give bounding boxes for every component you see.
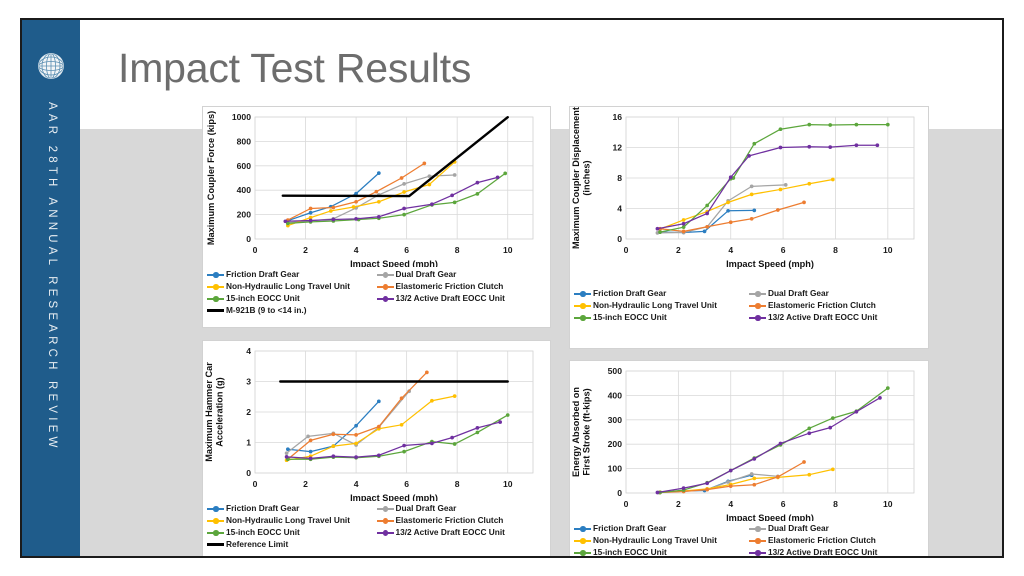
series-marker (453, 442, 457, 446)
legend-swatch-icon (207, 528, 224, 538)
legend-swatch-icon (574, 313, 591, 323)
svg-text:100: 100 (608, 464, 623, 474)
svg-text:1: 1 (246, 438, 251, 448)
legend-item-label: Non-Hydraulic Long Travel Unit (226, 281, 350, 292)
legend-swatch-icon (749, 301, 766, 311)
series-marker (776, 475, 780, 479)
series-marker (855, 410, 859, 414)
series-marker (377, 215, 381, 219)
legend-swatch-icon (207, 294, 224, 304)
chart-maximum-coupler-displacement: 04812160246810Impact Speed (mph)Maximum … (570, 107, 928, 348)
series-marker (705, 212, 709, 216)
legend-swatch-icon (207, 516, 224, 526)
legend-item-label: Friction Draft Gear (226, 269, 299, 280)
chart-panel-maximum-coupler-displacement: 04812160246810Impact Speed (mph)Maximum … (569, 106, 929, 349)
series-marker (831, 416, 835, 420)
legend-item: Non-Hydraulic Long Travel Unit (574, 300, 749, 311)
svg-text:Energy Absorbed on: Energy Absorbed on (571, 387, 581, 477)
sidebar-vertical-label: AAR 28TH ANNUAL RESEARCH REVIEW (22, 98, 80, 538)
series-marker (309, 439, 313, 443)
legend-item: Elastomeric Friction Clutch (749, 300, 924, 311)
series-marker (779, 188, 783, 192)
series-marker (750, 472, 754, 476)
legend-item-label: 15-inch EOCC Unit (226, 293, 300, 304)
chart-maximum-hammer-car-acceleration: 012340246810Impact Speed (mph)Maximum Ha… (203, 341, 550, 558)
legend-swatch-icon (749, 524, 766, 534)
svg-text:6: 6 (404, 245, 409, 255)
slide-canvas: Impact Test Results 02004006008001000024… (20, 18, 1004, 558)
svg-text:6: 6 (781, 245, 786, 255)
legend-item-label: Friction Draft Gear (226, 503, 299, 514)
series-marker (752, 483, 756, 487)
svg-text:8: 8 (617, 173, 622, 183)
series-marker (752, 457, 756, 461)
series-marker (752, 477, 756, 481)
legend-swatch-icon (749, 536, 766, 546)
legend-item: Reference Limit (207, 539, 546, 550)
series-marker (802, 201, 806, 205)
series-marker (354, 424, 358, 428)
svg-text:4: 4 (617, 204, 622, 214)
svg-text:10: 10 (503, 479, 513, 489)
chart-legend-maximum-coupler-displacement: Friction Draft GearDual Draft GearNon-Hy… (574, 288, 924, 323)
series-marker (828, 426, 832, 430)
series-marker (354, 433, 358, 437)
series-marker (828, 145, 832, 149)
svg-text:10: 10 (503, 245, 513, 255)
legend-item-label: Elastomeric Friction Clutch (396, 515, 504, 526)
series-marker (285, 451, 289, 455)
series-marker (750, 185, 754, 189)
series-marker (309, 211, 313, 215)
svg-text:Acceleration (g): Acceleration (g) (215, 377, 225, 446)
svg-text:12: 12 (612, 143, 622, 153)
series-marker (400, 396, 404, 400)
legend-swatch-icon (574, 524, 591, 534)
svg-text:0: 0 (624, 245, 629, 255)
series-marker (400, 176, 404, 180)
svg-text:8: 8 (455, 245, 460, 255)
legend-swatch-icon (207, 270, 224, 280)
series-marker (377, 425, 381, 429)
legend-item: Dual Draft Gear (749, 288, 924, 299)
series-marker (476, 426, 480, 430)
legend-item: Non-Hydraulic Long Travel Unit (574, 535, 749, 546)
legend-item: 13/2 Active Draft EOCC Unit (749, 312, 924, 323)
series-marker (450, 193, 454, 197)
series-marker (807, 426, 811, 430)
series-marker (402, 444, 406, 448)
legend-item: Elastomeric Friction Clutch (749, 535, 924, 546)
legend-item-label: Dual Draft Gear (768, 523, 829, 534)
chart-panel-maximum-hammer-car-acceleration: 012340246810Impact Speed (mph)Maximum Ha… (202, 340, 551, 558)
svg-text:0: 0 (246, 468, 251, 478)
svg-text:400: 400 (237, 185, 252, 195)
series-marker (422, 162, 426, 166)
series-marker (776, 208, 780, 212)
series-marker (352, 205, 356, 209)
legend-item-label: Elastomeric Friction Clutch (396, 281, 504, 292)
series-marker (374, 190, 378, 194)
svg-text:200: 200 (237, 210, 252, 220)
series-marker (682, 486, 686, 490)
series-marker (656, 227, 660, 231)
series-marker (331, 444, 335, 448)
legend-item: Dual Draft Gear (377, 503, 547, 514)
svg-text:0: 0 (246, 234, 251, 244)
svg-text:8: 8 (833, 245, 838, 255)
chart-maximum-coupler-force: 020040060080010000246810Impact Speed (mp… (203, 107, 550, 327)
series-marker (705, 225, 709, 229)
series-marker (377, 453, 381, 457)
legend-item-label: Friction Draft Gear (593, 288, 666, 299)
slide-body: Impact Test Results 02004006008001000024… (80, 20, 1004, 556)
svg-text:Impact Speed (mph): Impact Speed (mph) (726, 259, 814, 269)
series-marker (682, 218, 686, 222)
legend-swatch-icon (574, 301, 591, 311)
series-marker (306, 435, 310, 439)
legend-item: M-921B (9 to <14 in.) (207, 305, 546, 316)
series-marker (503, 172, 507, 176)
series-marker (453, 394, 457, 398)
legend-item-label: 15-inch EOCC Unit (226, 527, 300, 538)
svg-text:2: 2 (303, 479, 308, 489)
series-marker (476, 181, 480, 185)
series-marker (705, 488, 709, 492)
legend-item-label: 13/2 Active Draft EOCC Unit (396, 293, 505, 304)
legend-swatch-icon (749, 548, 766, 558)
chart-legend-energy-absorbed-on-first-stroke: Friction Draft GearDual Draft GearNon-Hy… (574, 523, 924, 558)
svg-text:Maximum Coupler Force (kips): Maximum Coupler Force (kips) (206, 111, 216, 245)
legend-swatch-icon (377, 294, 394, 304)
legend-item: 13/2 Active Draft EOCC Unit (377, 293, 547, 304)
series-marker (453, 173, 457, 177)
legend-swatch-icon (377, 282, 394, 292)
svg-text:3: 3 (246, 377, 251, 387)
series-marker (354, 217, 358, 221)
series-marker (402, 450, 406, 454)
legend-item: Elastomeric Friction Clutch (377, 281, 547, 292)
svg-text:400: 400 (608, 390, 623, 400)
svg-text:2: 2 (676, 499, 681, 509)
svg-text:4: 4 (728, 245, 733, 255)
legend-item-label: 15-inch EOCC Unit (593, 312, 667, 323)
legend-item: Elastomeric Friction Clutch (377, 515, 547, 526)
series-marker (377, 399, 381, 403)
series-marker (779, 146, 783, 150)
series-marker (747, 154, 751, 158)
series-marker (656, 491, 660, 495)
chart-plot-area-maximum-coupler-displacement: 04812160246810Impact Speed (mph)Maximum … (570, 107, 928, 286)
legend-item-label: 13/2 Active Draft EOCC Unit (768, 312, 877, 323)
legend-item: Friction Draft Gear (207, 503, 377, 514)
svg-text:4: 4 (354, 245, 359, 255)
series-marker (875, 143, 879, 147)
chart-energy-absorbed-first-stroke: 01002003004005000246810Impact Speed (mph… (570, 361, 928, 558)
legend-swatch-icon (377, 270, 394, 280)
series-marker (354, 200, 358, 204)
svg-text:Impact Speed (mph): Impact Speed (mph) (350, 259, 438, 267)
series-marker (331, 454, 335, 458)
legend-item-label: Non-Hydraulic Long Travel Unit (593, 300, 717, 311)
series-marker (726, 209, 730, 213)
series-marker (682, 230, 686, 234)
series-marker (309, 450, 313, 454)
svg-text:200: 200 (608, 439, 623, 449)
svg-text:800: 800 (237, 136, 252, 146)
svg-text:0: 0 (617, 488, 622, 498)
legend-swatch-icon (377, 504, 394, 514)
legend-item-label: Friction Draft Gear (593, 523, 666, 534)
legend-item: Non-Hydraulic Long Travel Unit (207, 281, 377, 292)
legend-item-label: Dual Draft Gear (396, 269, 457, 280)
series-marker (750, 193, 754, 197)
legend-swatch-icon (574, 289, 591, 299)
series-marker (430, 202, 434, 206)
svg-text:6: 6 (781, 499, 786, 509)
legend-item-label: Non-Hydraulic Long Travel Unit (593, 535, 717, 546)
svg-text:4: 4 (246, 346, 251, 356)
svg-text:0: 0 (253, 245, 258, 255)
legend-item-label: 13/2 Active Draft EOCC Unit (768, 547, 877, 558)
svg-text:10: 10 (883, 499, 893, 509)
series-marker (729, 220, 733, 224)
series-marker (476, 192, 480, 196)
legend-item: Friction Draft Gear (207, 269, 377, 280)
series-marker (703, 230, 707, 234)
series-marker (402, 182, 406, 186)
series-marker (729, 175, 733, 179)
chart-panel-maximum-coupler-force: 020040060080010000246810Impact Speed (mp… (202, 106, 551, 328)
series-marker (682, 222, 686, 226)
svg-text:8: 8 (455, 479, 460, 489)
chart-legend-maximum-hammer-car-acceleration: Friction Draft GearDual Draft GearNon-Hy… (207, 503, 546, 550)
series-marker (476, 431, 480, 435)
svg-text:10: 10 (883, 245, 893, 255)
svg-text:8: 8 (833, 499, 838, 509)
page-title: Impact Test Results (118, 48, 471, 89)
chart-plot-area-energy-absorbed-on-first-stroke: 01002003004005000246810Impact Speed (mph… (570, 361, 928, 521)
legend-swatch-icon (749, 313, 766, 323)
legend-item-label: Dual Draft Gear (396, 503, 457, 514)
svg-text:Maximum Hammer Car: Maximum Hammer Car (204, 362, 214, 462)
series-marker (726, 201, 730, 205)
svg-text:0: 0 (253, 479, 258, 489)
series-marker (430, 399, 434, 403)
series-marker (496, 176, 500, 180)
legend-item-label: 15-inch EOCC Unit (593, 547, 667, 558)
series-marker (658, 230, 662, 234)
series-marker (886, 386, 890, 390)
chart-legend-maximum-coupler-force: Friction Draft GearDual Draft GearNon-Hy… (207, 269, 546, 316)
series-marker (430, 442, 434, 446)
svg-text:16: 16 (612, 112, 622, 122)
svg-text:(inches): (inches) (582, 160, 592, 195)
legend-item: 13/2 Active Draft EOCC Unit (749, 547, 924, 558)
series-marker (453, 201, 457, 205)
series-marker (878, 396, 882, 400)
svg-text:4: 4 (354, 479, 359, 489)
chart-panel-energy-absorbed-first-stroke: 01002003004005000246810Impact Speed (mph… (569, 360, 929, 558)
series-marker (784, 183, 788, 187)
brand-sidebar: AAR 28TH ANNUAL RESEARCH REVIEW (22, 20, 80, 556)
legend-swatch-icon (377, 528, 394, 538)
legend-item: Friction Draft Gear (574, 288, 749, 299)
series-marker (831, 178, 835, 182)
series-marker (329, 209, 333, 213)
series-marker (682, 225, 686, 229)
series-marker (831, 467, 835, 471)
svg-text:2: 2 (303, 245, 308, 255)
legend-item-label: Elastomeric Friction Clutch (768, 300, 876, 311)
series-marker (309, 457, 313, 461)
svg-text:2: 2 (676, 245, 681, 255)
series-marker (828, 123, 832, 127)
series-marker (802, 460, 806, 464)
series-marker (779, 127, 783, 131)
legend-swatch-icon (207, 504, 224, 514)
svg-text:500: 500 (608, 366, 623, 376)
series-marker (807, 182, 811, 186)
legend-swatch-icon (207, 282, 224, 292)
series-marker (729, 469, 733, 473)
legend-swatch-icon (574, 548, 591, 558)
series-marker (402, 207, 406, 211)
series-marker (331, 218, 335, 222)
legend-item: 15-inch EOCC Unit (207, 527, 377, 538)
legend-swatch-icon (749, 289, 766, 299)
series-marker (377, 171, 381, 175)
series-marker (729, 484, 733, 488)
series-marker (450, 436, 454, 440)
svg-text:6: 6 (404, 479, 409, 489)
svg-text:300: 300 (608, 415, 623, 425)
legend-item: Dual Draft Gear (377, 269, 547, 280)
series-marker (498, 420, 502, 424)
globe-icon (35, 50, 67, 82)
legend-item-label: Dual Draft Gear (768, 288, 829, 299)
legend-item-label: Elastomeric Friction Clutch (768, 535, 876, 546)
svg-text:First Stroke (ft-kips): First Stroke (ft-kips) (582, 388, 592, 475)
series-marker (354, 455, 358, 459)
svg-text:Maximum Coupler Displacement: Maximum Coupler Displacement (571, 107, 581, 249)
series-marker (506, 413, 510, 417)
legend-swatch-icon (207, 540, 224, 550)
svg-text:4: 4 (728, 499, 733, 509)
svg-text:Impact Speed (mph): Impact Speed (mph) (726, 513, 814, 521)
legend-swatch-icon (574, 536, 591, 546)
series-marker (807, 431, 811, 435)
series-marker (886, 123, 890, 127)
series-marker (750, 217, 754, 221)
legend-item: 15-inch EOCC Unit (574, 547, 749, 558)
series-marker (425, 371, 429, 375)
series-marker (402, 213, 406, 217)
series-marker (377, 200, 381, 204)
series-marker (285, 455, 289, 459)
sidebar-vertical-label-text: AAR 28TH ANNUAL RESEARCH REVIEW (46, 102, 58, 452)
legend-swatch-icon (377, 516, 394, 526)
series-marker (807, 145, 811, 149)
series-marker (428, 183, 432, 187)
legend-item: 13/2 Active Draft EOCC Unit (377, 527, 547, 538)
series-marker (402, 190, 406, 194)
series-marker (283, 219, 287, 223)
svg-text:0: 0 (624, 499, 629, 509)
series-marker (705, 481, 709, 485)
svg-text:1000: 1000 (232, 112, 251, 122)
series-marker (309, 219, 313, 223)
series-marker (855, 143, 859, 147)
legend-swatch-icon (207, 306, 224, 316)
series-marker (855, 123, 859, 127)
series-marker (807, 123, 811, 127)
series-marker (331, 206, 335, 210)
legend-item-label: Reference Limit (226, 539, 288, 550)
series-marker (309, 207, 313, 211)
legend-item: 15-inch EOCC Unit (207, 293, 377, 304)
legend-item-label: Non-Hydraulic Long Travel Unit (226, 515, 350, 526)
legend-item: 15-inch EOCC Unit (574, 312, 749, 323)
svg-text:0: 0 (617, 234, 622, 244)
series-marker (354, 442, 358, 446)
svg-text:600: 600 (237, 161, 252, 171)
chart-plot-area-maximum-coupler-force: 020040060080010000246810Impact Speed (mp… (203, 107, 550, 267)
series-marker (752, 209, 756, 213)
series-marker (705, 204, 709, 208)
series-marker (331, 432, 335, 436)
series-marker (807, 473, 811, 477)
series-marker (752, 142, 756, 146)
legend-item: Non-Hydraulic Long Travel Unit (207, 515, 377, 526)
series-marker (400, 423, 404, 427)
legend-item-label: M-921B (9 to <14 in.) (226, 305, 306, 316)
legend-item-label: 13/2 Active Draft EOCC Unit (396, 527, 505, 538)
legend-item: Friction Draft Gear (574, 523, 749, 534)
svg-text:2: 2 (246, 407, 251, 417)
chart-plot-area-maximum-hammer-car-acceleration: 012340246810Impact Speed (mph)Maximum Ha… (203, 341, 550, 501)
svg-text:Impact Speed (mph): Impact Speed (mph) (350, 493, 438, 501)
legend-item: Dual Draft Gear (749, 523, 924, 534)
series-marker (779, 442, 783, 446)
